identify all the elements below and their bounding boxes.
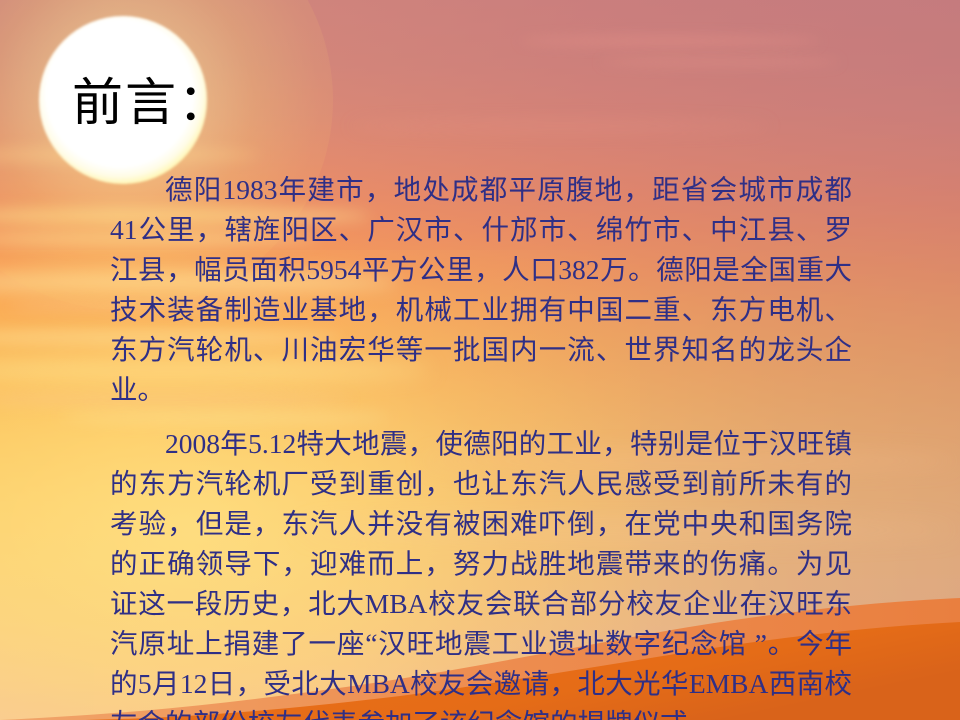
paragraph-2: 2008年5.12特大地震，使德阳的工业，特别是位于汉旺镇的东方汽轮机厂受到重创… bbox=[110, 424, 852, 720]
paragraph-1: 德阳1983年建市，地处成都平原腹地，距省会城市成都41公里，辖旌阳区、广汉市、… bbox=[110, 170, 852, 410]
presentation-slide: 前言： 德阳1983年建市，地处成都平原腹地，距省会城市成都41公里，辖旌阳区、… bbox=[0, 0, 960, 720]
slide-content: 前言： 德阳1983年建市，地处成都平原腹地，距省会城市成都41公里，辖旌阳区、… bbox=[0, 0, 960, 720]
body-text-block: 德阳1983年建市，地处成都平原腹地，距省会城市成都41公里，辖旌阳区、广汉市、… bbox=[110, 170, 852, 720]
page-title: 前言： bbox=[72, 78, 231, 132]
